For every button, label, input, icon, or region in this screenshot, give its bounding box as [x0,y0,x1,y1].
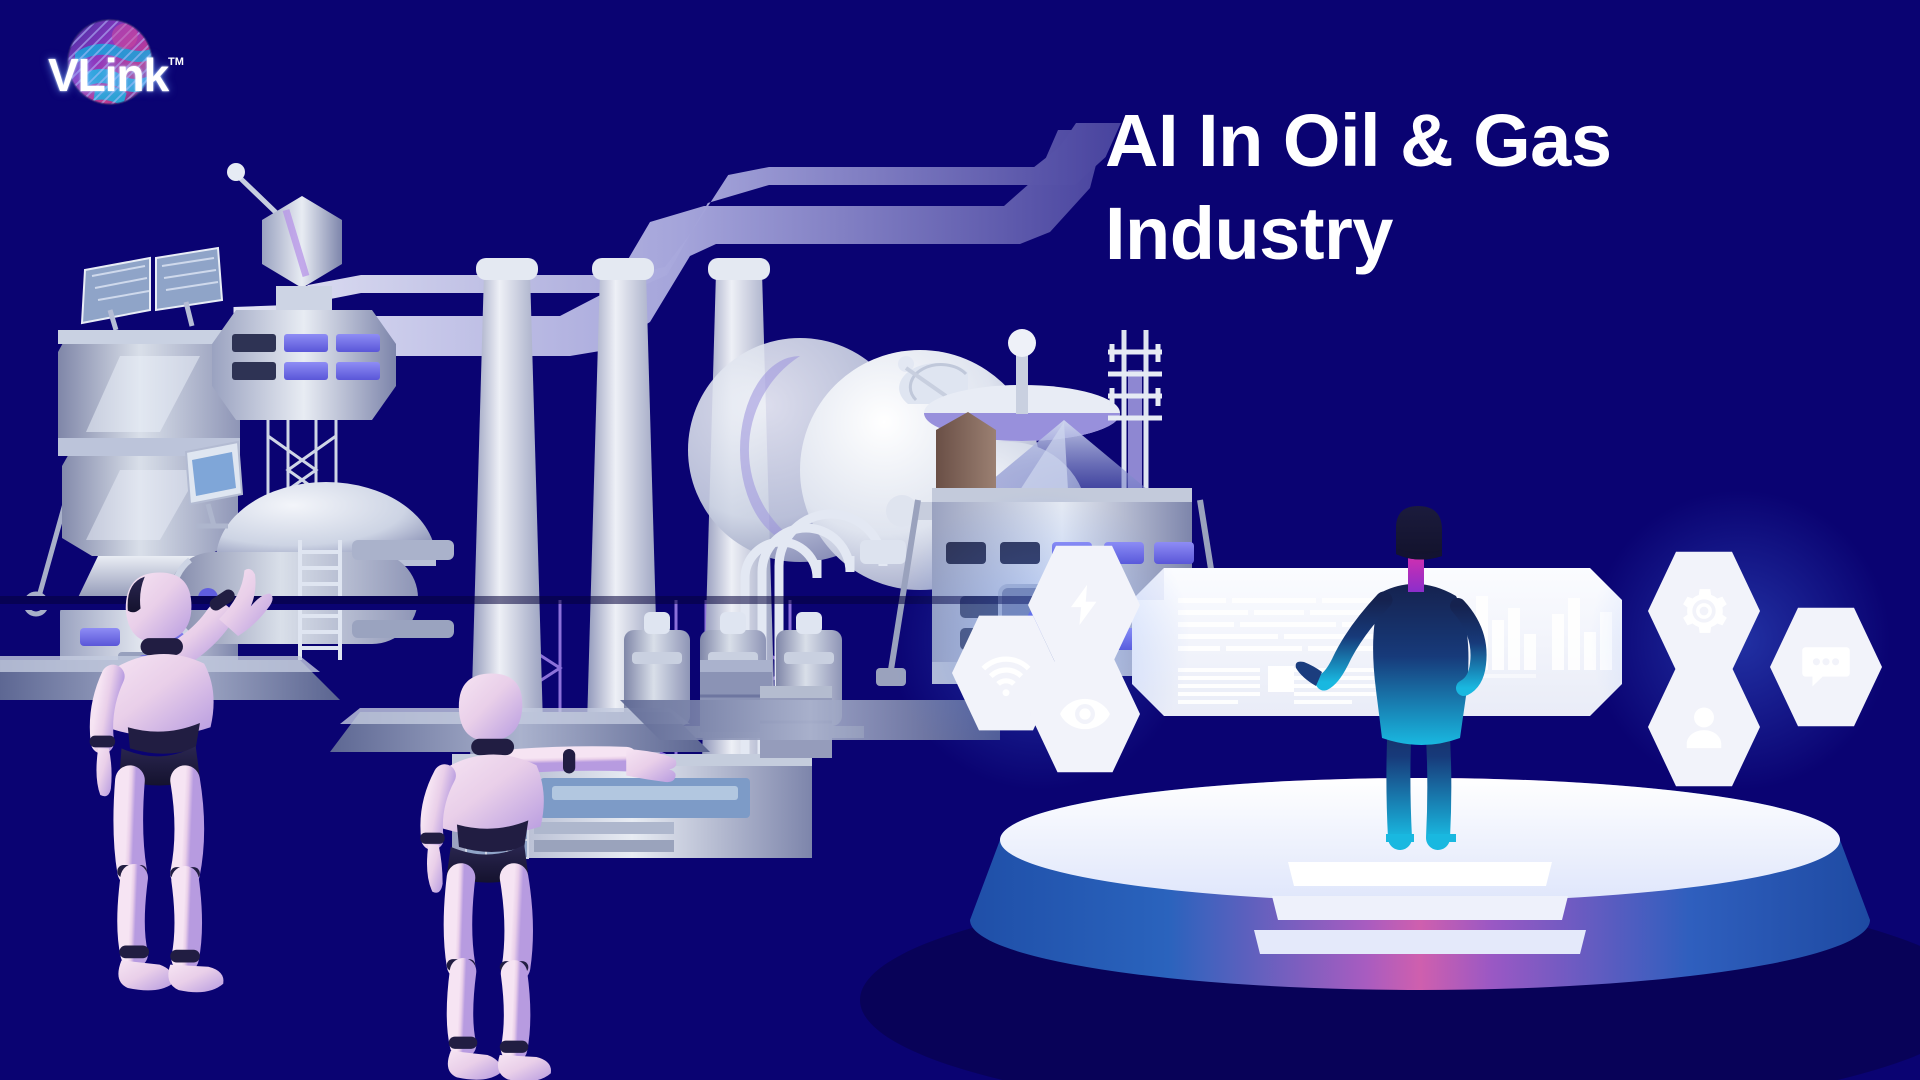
chat-icon [1801,644,1851,690]
page-title: AI In Oil & Gas Industry [1105,95,1845,280]
podium-steps [1254,862,1586,954]
logo-wordmark: VLink [48,52,168,98]
wifi-icon [980,647,1032,699]
illustration-canvas: VLink TM AI In Oil & Gas Industry [0,0,1920,1080]
logo-trademark: TM [168,56,184,68]
panel-thumbnail-1 [1268,666,1294,692]
bolt-icon [1061,580,1107,630]
page-title-line-1: AI In Oil & Gas [1105,95,1845,188]
user-icon [1681,702,1727,752]
gear-icon [1679,586,1729,636]
vlink-logo[interactable]: VLink TM [30,14,200,114]
eye-icon [1059,692,1111,736]
page-title-line-2: Industry [1105,188,1845,281]
